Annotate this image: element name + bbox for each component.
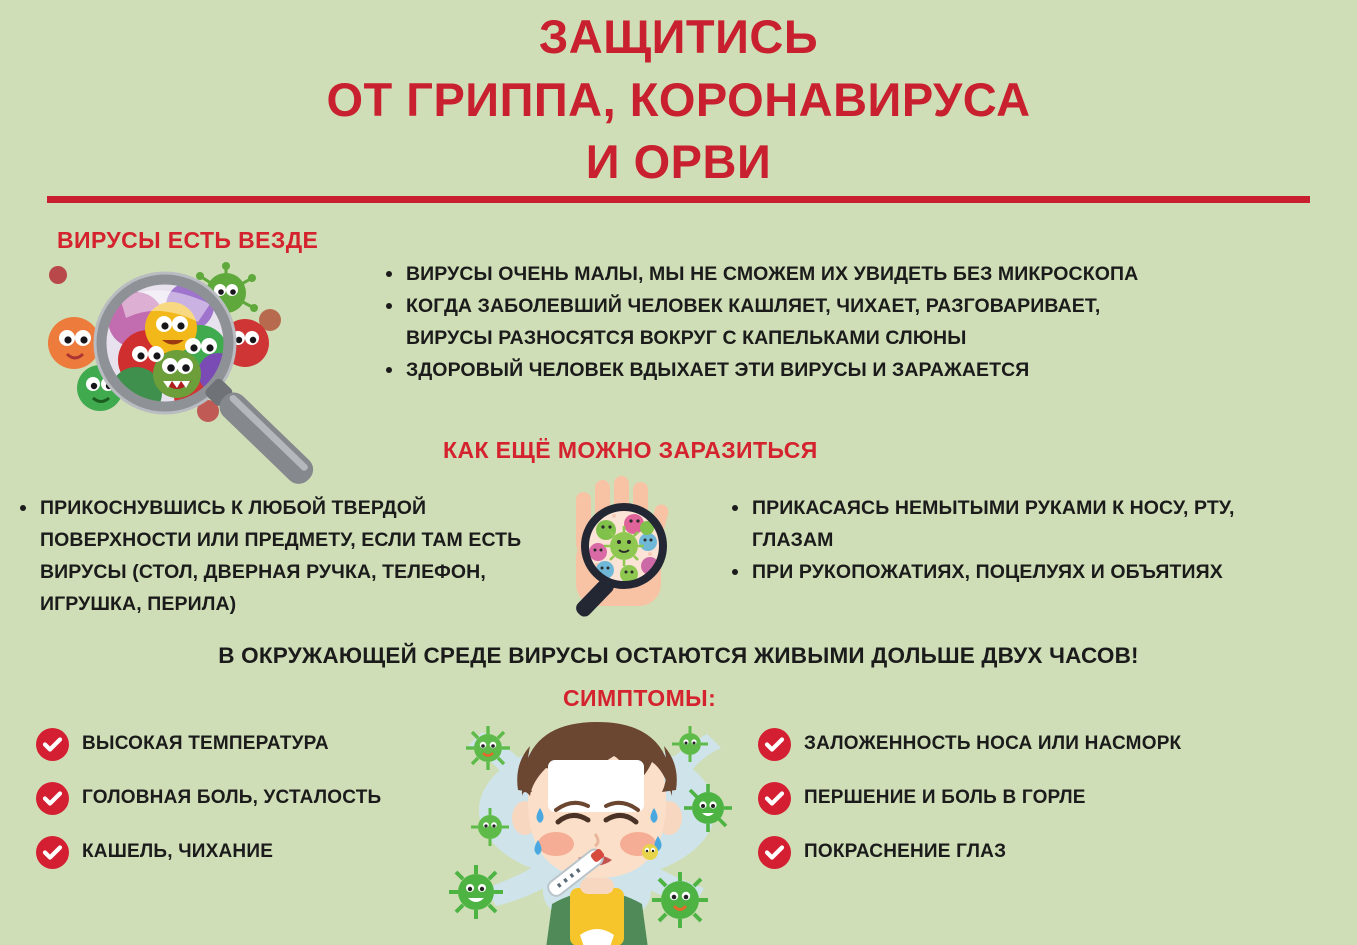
symptoms-list-left: ВЫСОКАЯ ТЕМПЕРАТУРА ГОЛОВНАЯ БОЛЬ, УСТАЛ… xyxy=(36,720,381,882)
symptom-label: ПОКРАСНЕНИЕ ГЛАЗ xyxy=(804,841,1006,863)
symptom-label: ГОЛОВНАЯ БОЛЬ, УСТАЛОСТЬ xyxy=(82,787,381,809)
list-item: ПРИКОСНУВШИСЬ К ЛЮБОЙ ТВЕРДОЙ ПОВЕРХНОСТ… xyxy=(14,492,534,620)
symptoms-list-right: ЗАЛОЖЕННОСТЬ НОСА ИЛИ НАСМОРК ПЕРШЕНИЕ И… xyxy=(758,720,1181,882)
list-item: ПРИ РУКОПОЖАТИЯХ, ПОЦЕЛУЯХ И ОБЪЯТИЯХ xyxy=(726,556,1266,588)
list-item: ГОЛОВНАЯ БОЛЬ, УСТАЛОСТЬ xyxy=(36,774,381,822)
germ-magnifier-illustration xyxy=(40,248,370,463)
title-divider xyxy=(47,196,1310,203)
list-item: ВИРУСЫ ОЧЕНЬ МАЛЫ, МЫ НЕ СМОЖЕМ ИХ УВИДЕ… xyxy=(380,258,1180,290)
sick-boy-illustration xyxy=(452,692,742,945)
contact-bullet-list: ПРИКАСАЯСЬ НЕМЫТЫМИ РУКАМИ К НОСУ, РТУ, … xyxy=(726,492,1266,588)
transmission-bullet-list: ВИРУСЫ ОЧЕНЬ МАЛЫ, МЫ НЕ СМОЖЕМ ИХ УВИДЕ… xyxy=(380,258,1180,386)
symptom-label: КАШЕЛЬ, ЧИХАНИЕ xyxy=(82,841,273,863)
check-icon xyxy=(36,836,69,869)
list-item: ПРИКАСАЯСЬ НЕМЫТЫМИ РУКАМИ К НОСУ, РТУ, … xyxy=(726,492,1266,556)
surfaces-bullet-list: ПРИКОСНУВШИСЬ К ЛЮБОЙ ТВЕРДОЙ ПОВЕРХНОСТ… xyxy=(14,492,534,620)
symptom-label: ЗАЛОЖЕННОСТЬ НОСА ИЛИ НАСМОРК xyxy=(804,733,1181,755)
list-item: ПЕРШЕНИЕ И БОЛЬ В ГОРЛЕ xyxy=(758,774,1181,822)
environment-note: В ОКРУЖАЮЩЕЙ СРЕДЕ ВИРУСЫ ОСТАЮТСЯ ЖИВЫМ… xyxy=(0,643,1357,669)
poster-root: ЗАЩИТИСЬ ОТ ГРИППА, КОРОНАВИРУСА И ОРВИ … xyxy=(0,0,1357,945)
heading-how-else-infected: КАК ЕЩЁ МОЖНО ЗАРАЗИТЬСЯ xyxy=(443,437,818,464)
list-item: ЗДОРОВЫЙ ЧЕЛОВЕК ВДЫХАЕТ ЭТИ ВИРУСЫ И ЗА… xyxy=(380,354,1180,386)
list-item: ВЫСОКАЯ ТЕМПЕРАТУРА xyxy=(36,720,381,768)
check-icon xyxy=(758,782,791,815)
title-line-2: ОТ ГРИППА, КОРОНАВИРУСА xyxy=(0,69,1357,132)
symptom-label: ПЕРШЕНИЕ И БОЛЬ В ГОРЛЕ xyxy=(804,787,1086,809)
title-line-1: ЗАЩИТИСЬ xyxy=(0,6,1357,69)
check-icon xyxy=(758,836,791,869)
symptom-label: ВЫСОКАЯ ТЕМПЕРАТУРА xyxy=(82,733,329,755)
page-title: ЗАЩИТИСЬ ОТ ГРИППА, КОРОНАВИРУСА И ОРВИ xyxy=(0,6,1357,194)
hand-magnifier-illustration xyxy=(562,470,722,630)
list-item: ЗАЛОЖЕННОСТЬ НОСА ИЛИ НАСМОРК xyxy=(758,720,1181,768)
check-icon xyxy=(36,782,69,815)
check-icon xyxy=(758,728,791,761)
list-item: ПОКРАСНЕНИЕ ГЛАЗ xyxy=(758,828,1181,876)
check-icon xyxy=(36,728,69,761)
list-item: КОГДА ЗАБОЛЕВШИЙ ЧЕЛОВЕК КАШЛЯЕТ, ЧИХАЕТ… xyxy=(380,290,1180,354)
list-item: КАШЕЛЬ, ЧИХАНИЕ xyxy=(36,828,381,876)
title-line-3: И ОРВИ xyxy=(0,131,1357,194)
